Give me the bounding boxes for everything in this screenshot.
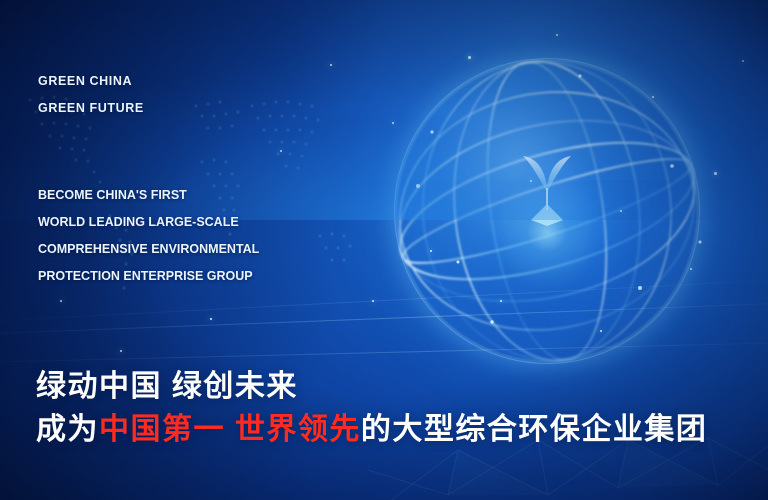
subhead-line-3: COMPREHENSIVE ENVIRONMENTAL (38, 236, 259, 263)
headline-chinese-block: 绿动中国 绿创未来 成为中国第一 世界领先的大型综合环保企业集团 (36, 366, 707, 452)
headline-green-china: GREEN CHINA (38, 68, 144, 95)
subline-chinese: 成为中国第一 世界领先的大型综合环保企业集团 (36, 408, 707, 452)
headline-chinese-main: 绿动中国 绿创未来 (36, 366, 707, 408)
subhead-english-block: BECOME CHINA'S FIRST WORLD LEADING LARGE… (38, 182, 259, 290)
subhead-line-1: BECOME CHINA'S FIRST (38, 182, 259, 209)
subhead-line-4: PROTECTION ENTERPRISE GROUP (38, 263, 259, 290)
subline-accent: 中国第一 世界领先 (99, 413, 361, 446)
subhead-line-2: WORLD LEADING LARGE-SCALE (38, 209, 259, 236)
headline-green-future: GREEN FUTURE (38, 95, 144, 122)
banner-image: GREEN CHINA GREEN FUTURE BECOME CHINA'S … (0, 0, 768, 500)
headline-english-block: GREEN CHINA GREEN FUTURE (38, 68, 144, 122)
sprout-leaf-emblem (487, 130, 607, 250)
subline-suffix: 的大型综合环保企业集团 (361, 413, 708, 446)
subline-prefix: 成为 (36, 413, 99, 446)
